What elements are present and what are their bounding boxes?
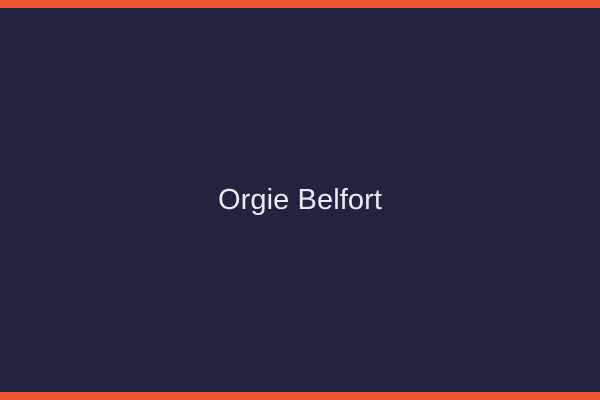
bottom-accent-bar — [0, 392, 600, 400]
placeholder-card: Orgie Belfort — [0, 0, 600, 400]
top-accent-bar — [0, 0, 600, 8]
card-body: Orgie Belfort — [0, 8, 600, 392]
page-title: Orgie Belfort — [202, 183, 398, 218]
